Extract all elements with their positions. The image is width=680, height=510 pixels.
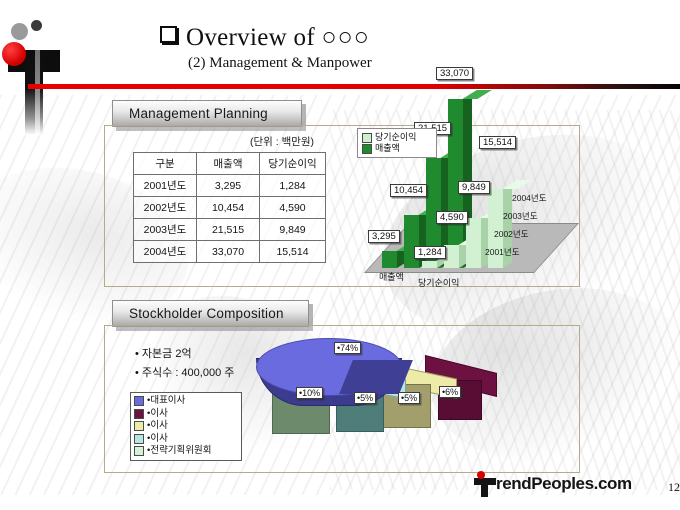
pie-data-label-6: •6%	[439, 386, 461, 398]
legend-item-director-3: •이사	[134, 433, 238, 446]
table-row: 2004년도 33,070 15,514	[134, 241, 326, 263]
legend-swatch-icon	[362, 133, 372, 143]
bar-value-label: 3,295	[368, 230, 400, 243]
pie-chart-legend: •대표이사 •이사 •이사 •이사 •전략기획위원회	[130, 392, 242, 461]
cell-year: 2004년도	[134, 241, 197, 263]
table-row: 2003년도 21,515 9,849	[134, 219, 326, 241]
legend-item-director-2: •이사	[134, 420, 238, 433]
bar-revenue-2001	[382, 251, 397, 268]
legend-label: •대표이사	[147, 395, 185, 408]
bar-chart-legend: 당기순이익 매출액	[357, 128, 437, 158]
legend-label: •전략기획위원회	[147, 445, 212, 458]
pie-data-label-10: •10%	[296, 387, 323, 399]
bar-revenue-2002	[404, 215, 419, 268]
table-row: 2002년도 10,454 4,590	[134, 197, 326, 219]
bar-net-profit-2001	[422, 261, 437, 268]
cell-revenue: 21,515	[197, 219, 260, 241]
bar-net-profit-2002	[444, 245, 459, 268]
bar-value-label: 1,284	[414, 246, 446, 259]
cell-year: 2002년도	[134, 197, 197, 219]
page-title: Overview of ○○○	[160, 24, 580, 52]
legend-item-ceo: •대표이사	[134, 395, 238, 408]
bar-value-label: 15,514	[479, 136, 516, 149]
cell-net-profit: 9,849	[260, 219, 326, 241]
legend-label: •이사	[147, 420, 168, 433]
cell-revenue: 3,295	[197, 175, 260, 197]
table-header-row: 구분 매출액 당기순이익	[134, 153, 326, 175]
legend-swatch-icon	[134, 434, 144, 444]
axis-tick-2004: 2004년도	[512, 192, 547, 204]
bar-net-profit-2003	[466, 218, 481, 268]
table-row: 2001년도 3,295 1,284	[134, 175, 326, 197]
brand-logo-mark	[0, 20, 70, 135]
axis-label-revenue: 매출액	[379, 270, 404, 283]
axis-tick-2001: 2001년도	[485, 246, 520, 258]
legend-swatch-icon	[362, 144, 372, 154]
title-anonymized-name: ○○○	[322, 24, 370, 51]
legend-label: 당기순이익	[375, 132, 416, 143]
legend-item-revenue: 매출액	[362, 143, 432, 154]
axis-tick-2002: 2002년도	[494, 228, 529, 240]
bar-value-label: 33,070	[436, 67, 473, 80]
legend-label: •이사	[147, 408, 168, 421]
bar-value-label: 10,454	[390, 184, 427, 197]
bar-chart-3d: 3,295 10,454 21,515 33,070 1,284 4,590 9…	[360, 60, 580, 285]
bar-value-label: 9,849	[458, 181, 490, 194]
logo-dark-circle-icon	[31, 20, 42, 31]
legend-swatch-icon	[134, 396, 144, 406]
table-unit-note: (단위 : 백만원)	[250, 134, 314, 149]
cell-revenue: 10,454	[197, 197, 260, 219]
section-header-management-planning: Management Planning	[112, 100, 302, 127]
pie-data-label-5a: •5%	[354, 392, 376, 404]
pie-chart-3d: •74% •10% •5% •5% •6%	[250, 330, 570, 465]
stockholder-bullet-list: • 자본금 2억 • 주식수 : 400,000 주	[135, 345, 234, 383]
financial-table: 구분 매출액 당기순이익 2001년도 3,295 1,284 2002년도 1…	[133, 152, 326, 263]
cell-year: 2003년도	[134, 219, 197, 241]
section-header-stockholder-composition: Stockholder Composition	[112, 300, 309, 327]
cell-net-profit: 1,284	[260, 175, 326, 197]
column-header: 구분	[134, 153, 197, 175]
legend-swatch-icon	[134, 409, 144, 419]
logo-t-stem	[25, 50, 43, 135]
page-number: 12	[668, 480, 680, 495]
title-square-bullet-icon	[160, 26, 177, 43]
cell-revenue: 33,070	[197, 241, 260, 263]
cell-net-profit: 4,590	[260, 197, 326, 219]
bar-value-label: 4,590	[436, 211, 468, 224]
bullet-shares: • 주식수 : 400,000 주	[135, 364, 234, 383]
legend-swatch-icon	[134, 446, 144, 456]
column-header: 당기순이익	[260, 153, 326, 175]
logo-gray-circle-icon	[11, 23, 28, 40]
footer-logo-icon	[472, 470, 498, 496]
column-header: 매출액	[197, 153, 260, 175]
legend-label: •이사	[147, 433, 168, 446]
section-header-label: Management Planning	[113, 106, 268, 121]
legend-swatch-icon	[134, 421, 144, 431]
legend-item-net-profit: 당기순이익	[362, 132, 432, 143]
cell-year: 2001년도	[134, 175, 197, 197]
pie-data-label-74: •74%	[334, 342, 361, 354]
legend-label: 매출액	[375, 143, 400, 154]
axis-label-net-profit: 당기순이익	[418, 276, 459, 289]
axis-tick-2003: 2003년도	[503, 210, 538, 222]
pie-data-label-5b: •5%	[398, 392, 420, 404]
bullet-capital: • 자본금 2억	[135, 345, 234, 364]
header-divider-rule	[28, 84, 680, 89]
section-header-label: Stockholder Composition	[113, 306, 284, 321]
logo-t-stem-highlight	[35, 50, 40, 135]
logo-red-circle-icon	[2, 42, 26, 66]
legend-item-director-1: •이사	[134, 408, 238, 421]
footer-brand-text: rendPeoples.com	[496, 474, 632, 494]
cell-net-profit: 15,514	[260, 241, 326, 263]
legend-item-strategy-committee: •전략기획위원회	[134, 445, 238, 458]
page-title-text: Overview of	[186, 24, 315, 51]
